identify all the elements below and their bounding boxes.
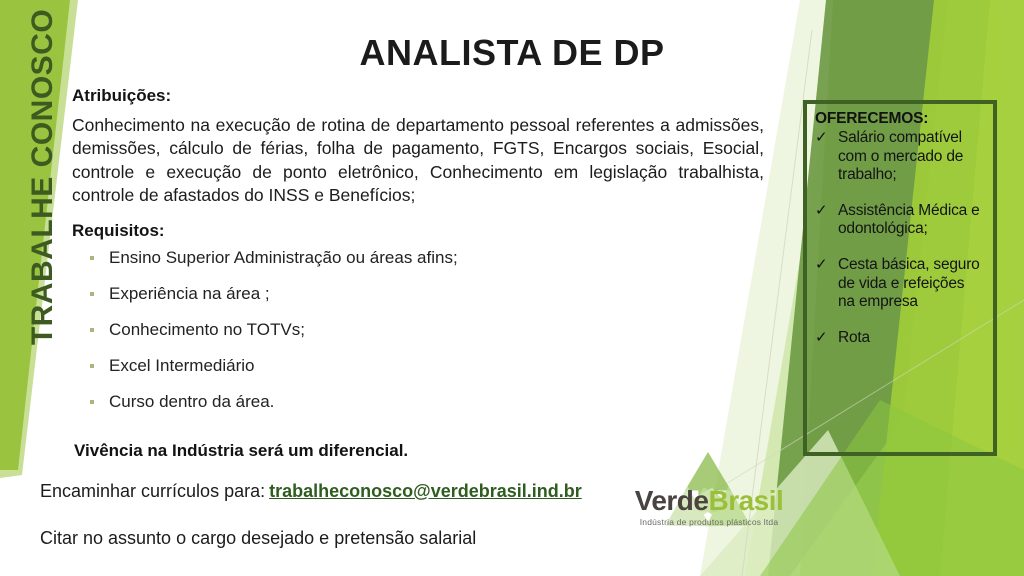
email-link[interactable]: trabalheconosco@verdebrasil.ind.br [269,481,582,501]
offer-text: Cesta básica, seguro de vida e refeições… [838,256,980,310]
square-bullet-icon [90,256,94,260]
list-item: ✓Rota [813,329,985,348]
offers-title: OFERECEMOS: [815,110,985,128]
main-content: Atribuições: Conhecimento na execução de… [72,86,772,429]
check-icon: ✓ [815,256,827,274]
logo-tagline: Indústria de produtos plásticos ltda [616,518,802,527]
list-item: Curso dentro da área. [72,393,772,410]
list-item: ✓Salário compatível com o mercado de tra… [813,129,985,185]
check-icon: ✓ [815,329,827,347]
attributions-body: Conhecimento na execução de rotina de de… [72,114,764,207]
list-item: Excel Intermediário [72,357,772,374]
offer-text: Assistência Médica e odontológica; [838,202,980,238]
check-icon: ✓ [815,202,827,220]
slide-canvas: TRABALHE CONOSCO ANALISTA DE DP Atribuiç… [0,0,1024,576]
square-bullet-icon [90,328,94,332]
attributions-heading: Atribuições: [72,86,772,106]
logo-wordmark: VerdeBrasil Indústria de produtos plásti… [616,487,802,527]
list-item: ✓Cesta básica, seguro de vida e refeiçõe… [813,256,985,312]
requirements-heading: Requisitos: [72,221,772,241]
requirements-list: Ensino Superior Administração ou áreas a… [72,249,772,410]
company-logo: VerdeBrasil Indústria de produtos plásti… [612,447,802,557]
check-icon: ✓ [815,129,827,147]
requirement-text: Ensino Superior Administração ou áreas a… [109,248,458,267]
highlight-note: Vivência na Indústria será um diferencia… [74,441,408,461]
logo-brasil-text: Brasil [708,485,783,516]
list-item: ✓Assistência Médica e odontológica; [813,202,985,239]
list-item: Conhecimento no TOTVs; [72,321,772,338]
offers-box: OFERECEMOS: ✓Salário compatível com o me… [803,100,997,456]
square-bullet-icon [90,364,94,368]
logo-verde-text: Verde [635,485,709,516]
square-bullet-icon [90,292,94,296]
send-cv-line: Encaminhar currículos para:trabalheconos… [40,481,582,502]
requirement-text: Curso dentro da área. [109,392,274,411]
list-item: Experiência na área ; [72,285,772,302]
list-item: Ensino Superior Administração ou áreas a… [72,249,772,266]
offer-text: Salário compatível com o mercado de trab… [838,129,963,183]
requirement-text: Excel Intermediário [109,356,255,375]
square-bullet-icon [90,400,94,404]
offers-list: ✓Salário compatível com o mercado de tra… [813,129,985,347]
requirement-text: Conhecimento no TOTVs; [109,320,305,339]
requirement-text: Experiência na área ; [109,284,270,303]
offer-text: Rota [838,329,870,346]
page-title: ANALISTA DE DP [0,32,1024,74]
subject-note: Citar no assunto o cargo desejado e pret… [40,528,476,549]
send-cv-prefix: Encaminhar currículos para: [40,481,265,501]
